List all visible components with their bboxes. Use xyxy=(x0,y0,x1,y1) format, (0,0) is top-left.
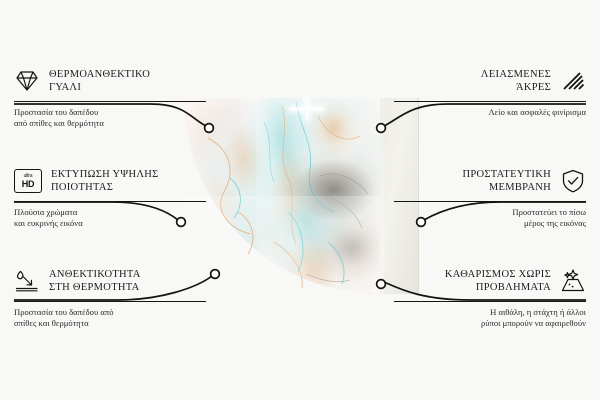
feature-divider xyxy=(14,101,206,102)
feature-description: Προστασία του δαπέδου από σπίθες και θερ… xyxy=(14,307,206,330)
feature-header: ultra HD ΕΚΤΥΠΩΣΗ ΥΨΗΛΗΣ ΠΟΙΟΤΗΤΑΣ xyxy=(14,166,206,196)
feature-heat-resistant-glass: ΘΕΡΜΟΑΝΘΕΚΤΙΚΟ ΓΥΑΛΙ Προστασία του δαπέδ… xyxy=(14,66,206,130)
feature-title: ΠΡΟΣΤΑΤΕΥΤΙΚΗ ΜΕΜΒΡΑΝΗ xyxy=(462,168,551,194)
glass-horizon-band xyxy=(184,196,380,230)
feature-heat-resistance: ΑΝΘΕΚΤΙΚΟΤΗΤΑ ΣΤΗ ΘΕΡΜΟΤΗΤΑ Προστασία το… xyxy=(14,266,206,330)
diamond-icon xyxy=(14,68,40,94)
feature-title: ΘΕΡΜΟΑΝΘΕΚΤΙΚΟ ΓΥΑΛΙ xyxy=(49,68,150,94)
ultra-hd-icon: ultra HD xyxy=(14,169,42,193)
feature-header: ΘΕΡΜΟΑΝΘΕΚΤΙΚΟ ΓΥΑΛΙ xyxy=(14,66,206,96)
infographic-stage: ΘΕΡΜΟΑΝΘΕΚΤΙΚΟ ΓΥΑΛΙ Προστασία του δαπέδ… xyxy=(0,0,600,400)
feature-divider xyxy=(394,301,586,302)
feature-description: Πλούσια χρώματα και ευκρινής εικόνα xyxy=(14,207,206,230)
feature-title: ΚΑΘΑΡΙΣΜΟΣ ΧΩΡΙΣ ΠΡΟΒΛΗΜΑΤΑ xyxy=(445,268,551,294)
feature-header: ΛΕΙΑΣΜΕΝΕΣ ΆΚΡΕΣ xyxy=(394,66,586,96)
feature-header: ΠΡΟΣΤΑΤΕΥΤΙΚΗ ΜΕΜΒΡΑΝΗ xyxy=(394,166,586,196)
feature-description: Προστατεύει το πίσω μέρος της εικόνας xyxy=(394,207,586,230)
feature-divider xyxy=(14,301,206,302)
feature-description: Η αιθάλη, η στάχτη ή άλλοι ρύποι μπορούν… xyxy=(394,307,586,330)
feature-divider xyxy=(394,201,586,202)
feature-divider xyxy=(14,201,206,202)
feature-title: ΕΚΤΥΠΩΣΗ ΥΨΗΛΗΣ ΠΟΙΟΤΗΤΑΣ xyxy=(51,168,159,194)
feature-title: ΑΝΘΕΚΤΙΚΟΤΗΤΑ ΣΤΗ ΘΕΡΜΟΤΗΤΑ xyxy=(49,268,141,294)
heat-resistance-icon xyxy=(14,268,40,294)
sparkle-highlight xyxy=(290,92,324,126)
ultra-hd-icon-main-text: HD xyxy=(22,180,34,189)
product-image xyxy=(178,92,422,310)
feature-header: ΚΑΘΑΡΙΣΜΟΣ ΧΩΡΙΣ ΠΡΟΒΛΗΜΑΤΑ xyxy=(394,266,586,296)
feature-title: ΛΕΙΑΣΜΕΝΕΣ ΆΚΡΕΣ xyxy=(481,68,551,94)
easy-cleaning-icon xyxy=(560,268,586,294)
feature-divider xyxy=(394,101,586,102)
feature-high-quality-print: ultra HD ΕΚΤΥΠΩΣΗ ΥΨΗΛΗΣ ΠΟΙΟΤΗΤΑΣ Πλούσ… xyxy=(14,166,206,230)
feature-description: Προστασία του δαπέδου από σπίθες και θερ… xyxy=(14,107,206,130)
feature-protective-film: ΠΡΟΣΤΑΤΕΥΤΙΚΗ ΜΕΜΒΡΑΝΗ Προστατεύει το πί… xyxy=(394,166,586,230)
feature-description: Λείο και ασφαλές φινίρισμα xyxy=(394,107,586,118)
feature-header: ΑΝΘΕΚΤΙΚΟΤΗΤΑ ΣΤΗ ΘΕΡΜΟΤΗΤΑ xyxy=(14,266,206,296)
feature-easy-cleaning: ΚΑΘΑΡΙΣΜΟΣ ΧΩΡΙΣ ΠΡΟΒΛΗΜΑΤΑ Η αιθάλη, η … xyxy=(394,266,586,330)
polished-edges-icon xyxy=(560,68,586,94)
feature-polished-edges: ΛΕΙΑΣΜΕΝΕΣ ΆΚΡΕΣ Λείο και ασφαλές φινίρι… xyxy=(394,66,586,118)
shield-check-icon xyxy=(560,168,586,194)
glass-panel xyxy=(178,92,422,310)
ultra-hd-icon-top-text: ultra xyxy=(24,174,33,179)
